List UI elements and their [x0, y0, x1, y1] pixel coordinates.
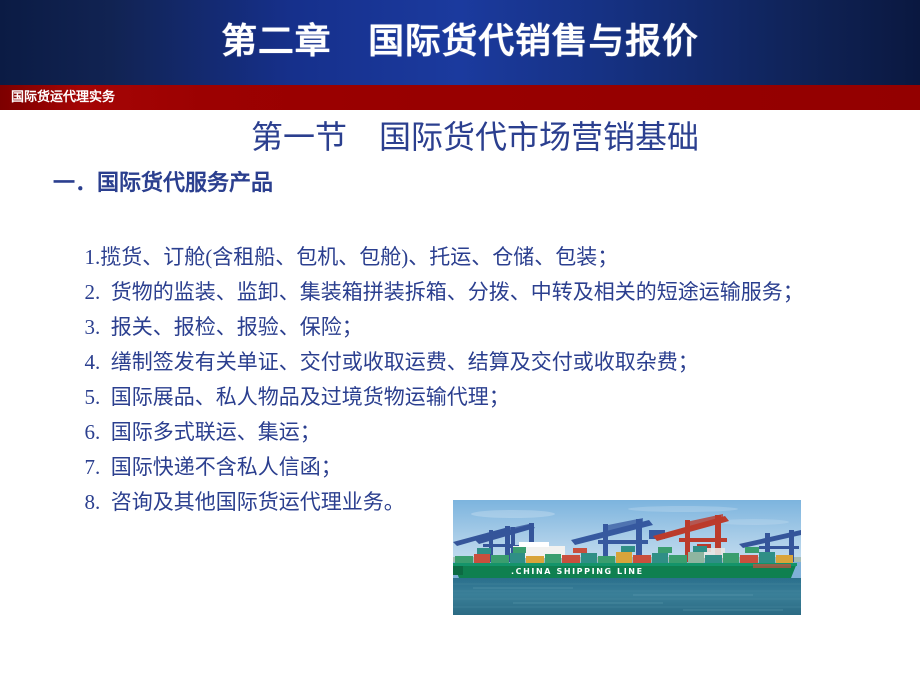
- list-item: 1.揽货、订舱(含租船、包机、包舱)、托运、仓储、包装；: [53, 205, 913, 240]
- course-banner: 国际货运代理实务: [0, 85, 920, 110]
- list-item-number: 6.: [85, 420, 101, 444]
- list-item-text: 咨询及其他国际货运代理业务。: [111, 490, 405, 514]
- chapter-title: 第二章 国际货代销售与报价: [221, 25, 698, 60]
- list-item-number: 2.: [85, 280, 101, 304]
- list-item-text: 货物的监装、监卸、集装箱拼装拆箱、分拨、中转及相关的短途运输服务；: [111, 280, 804, 304]
- course-banner-label: 国际货运代理实务: [0, 91, 115, 104]
- list-item-number: 1.: [85, 245, 101, 269]
- section-title: 第一节 国际货代市场营销基础: [0, 118, 920, 156]
- hull-text: .CHINA SHIPPING LINE: [511, 567, 644, 576]
- container-ship-photo: .CHINA SHIPPING LINE: [453, 500, 801, 615]
- list-item-text: 报关、报检、报验、保险；: [111, 315, 363, 339]
- list-item-number: 3.: [85, 315, 101, 339]
- list-item-number: 5.: [85, 385, 101, 409]
- list-item-text: 国际快递不含私人信函；: [111, 455, 342, 479]
- list-item-text: 国际多式联运、集运；: [111, 420, 321, 444]
- list-item-text: 国际展品、私人物品及过境货物运输代理；: [111, 385, 510, 409]
- list-item-number: 8.: [85, 490, 101, 514]
- container-ship-illustration: .CHINA SHIPPING LINE: [453, 500, 801, 615]
- subsection-title: 一．国际货代服务产品: [53, 170, 273, 196]
- list-item-number: 4.: [85, 350, 101, 374]
- product-service-list: 1.揽货、订舱(含租船、包机、包舱)、托运、仓储、包装； 2. 货物的监装、监卸…: [53, 205, 913, 485]
- slide-body: 第一节 国际货代市场营销基础 一．国际货代服务产品 1.揽货、订舱(含租船、包机…: [0, 110, 920, 690]
- list-item-text: 揽货、订舱(含租船、包机、包舱)、托运、仓储、包装；: [100, 245, 618, 269]
- list-item-number: 7.: [85, 455, 101, 479]
- chapter-banner: 第二章 国际货代销售与报价: [0, 0, 920, 85]
- list-item-text: 缮制签发有关单证、交付或收取运费、结算及交付或收取杂费；: [111, 350, 699, 374]
